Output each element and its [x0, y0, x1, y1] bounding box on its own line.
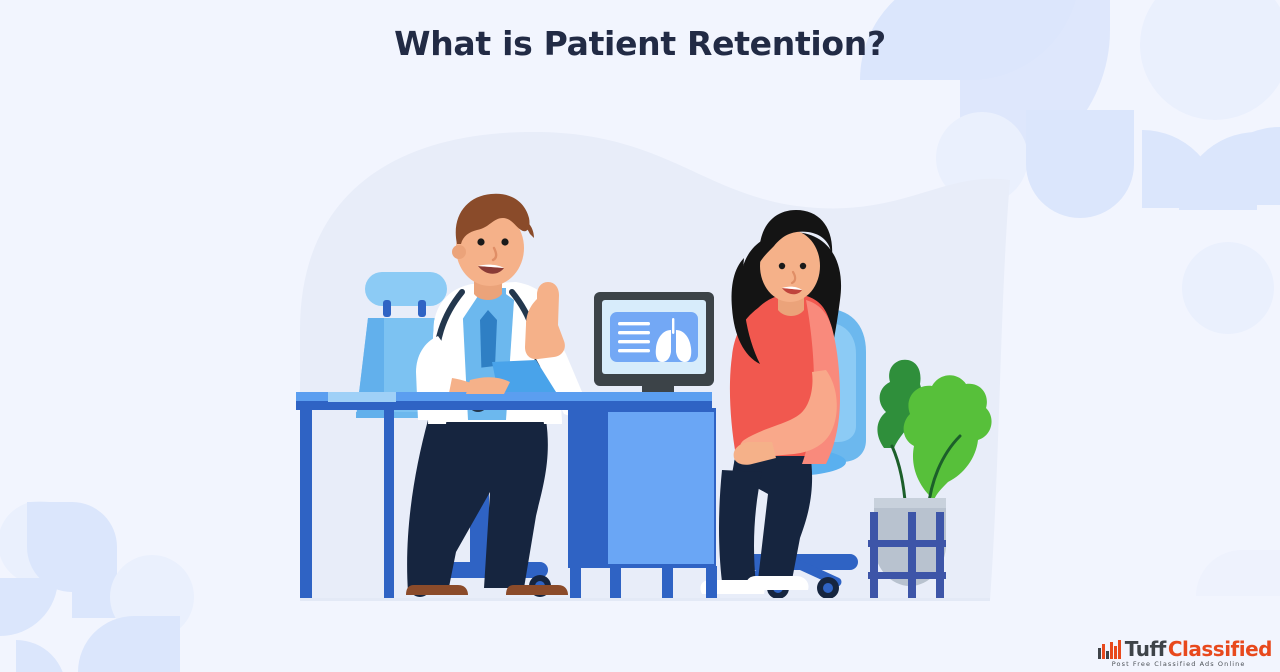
watermark-tagline: Post Free Classified Ads Online — [1112, 660, 1246, 668]
doctor-eye-left — [477, 238, 484, 245]
patient-eye-right — [800, 263, 806, 269]
plant-stand-rail-top — [868, 540, 946, 547]
patient-shoe-right — [746, 576, 808, 590]
doctor-shoe-left — [406, 585, 468, 595]
illustration-canvas: What is Patient Retention? — [0, 0, 1280, 672]
watermark-brand-second: Classified — [1168, 640, 1272, 659]
tuffclassified-watermark[interactable]: Tuff Classified Post Free Classified Ads… — [1098, 640, 1272, 668]
patient-eye-left — [779, 263, 785, 269]
desk-leg-mid — [384, 410, 394, 600]
page-title: What is Patient Retention? — [0, 24, 1280, 63]
desk-papers-left — [328, 392, 396, 402]
desk-drawer-front — [608, 412, 714, 564]
desk-leg-left — [300, 410, 312, 600]
plant-stand-leg-left — [870, 512, 878, 600]
doctor-eye-right — [501, 238, 508, 245]
bar-chart-logo-icon — [1098, 640, 1121, 659]
watermark-brand-first: Tuff — [1125, 640, 1166, 659]
plant-stand-rail-bottom — [868, 572, 946, 579]
doctor-shoe-right — [506, 585, 568, 595]
plant-stand-leg-mid — [908, 512, 916, 600]
plant-stand-leg-right — [936, 512, 944, 600]
doctor-patient-scene — [0, 0, 1280, 672]
floor-line — [300, 598, 990, 601]
